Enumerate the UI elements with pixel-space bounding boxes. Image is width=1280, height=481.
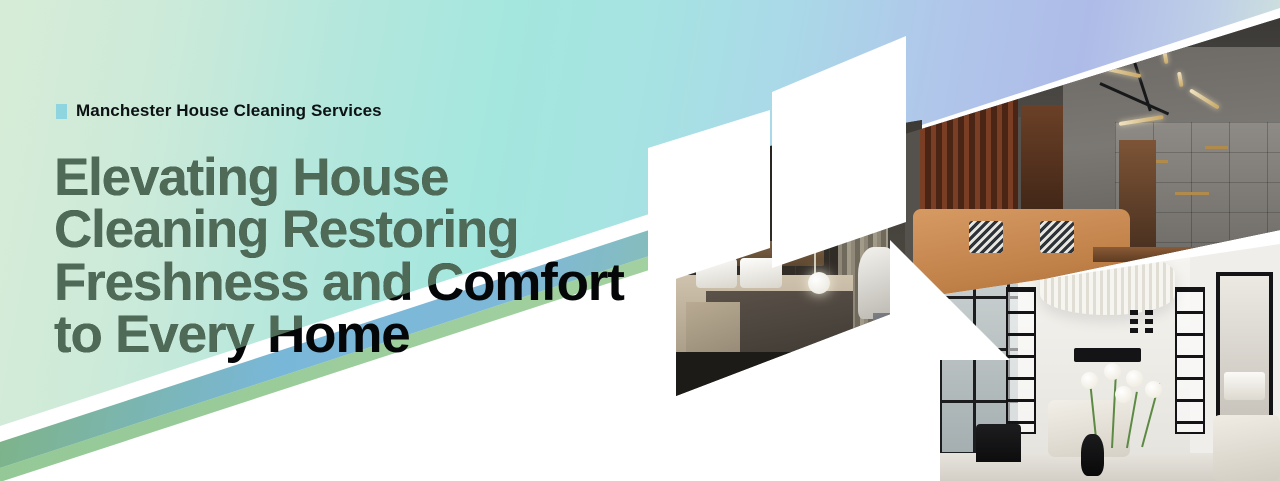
eyebrow-label: Manchester House Cleaning Services: [76, 101, 382, 121]
hero-content: Manchester House Cleaning Services Eleva…: [0, 0, 1280, 481]
eyebrow: Manchester House Cleaning Services: [56, 101, 382, 121]
square-bullet-icon: [56, 104, 67, 119]
hero-banner: Manchester House Cleaning Services Eleva…: [0, 0, 1280, 481]
